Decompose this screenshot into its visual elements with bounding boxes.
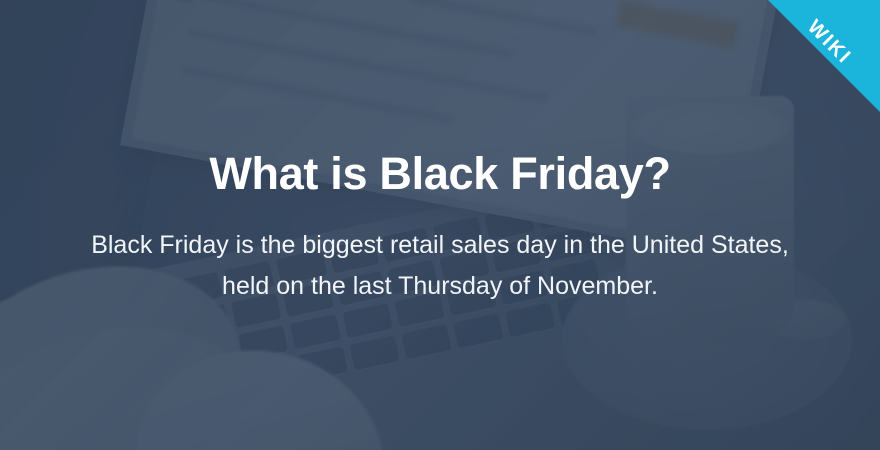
wiki-definition-card: What is Black Friday? Black Friday is th… [0, 0, 880, 450]
text-block: What is Black Friday? Black Friday is th… [0, 0, 880, 450]
page-title: What is Black Friday? [209, 149, 670, 199]
wiki-corner-ribbon[interactable]: WIKI [768, 0, 880, 112]
ribbon-triangle [768, 0, 880, 112]
page-description: Black Friday is the biggest retail sales… [90, 225, 790, 307]
